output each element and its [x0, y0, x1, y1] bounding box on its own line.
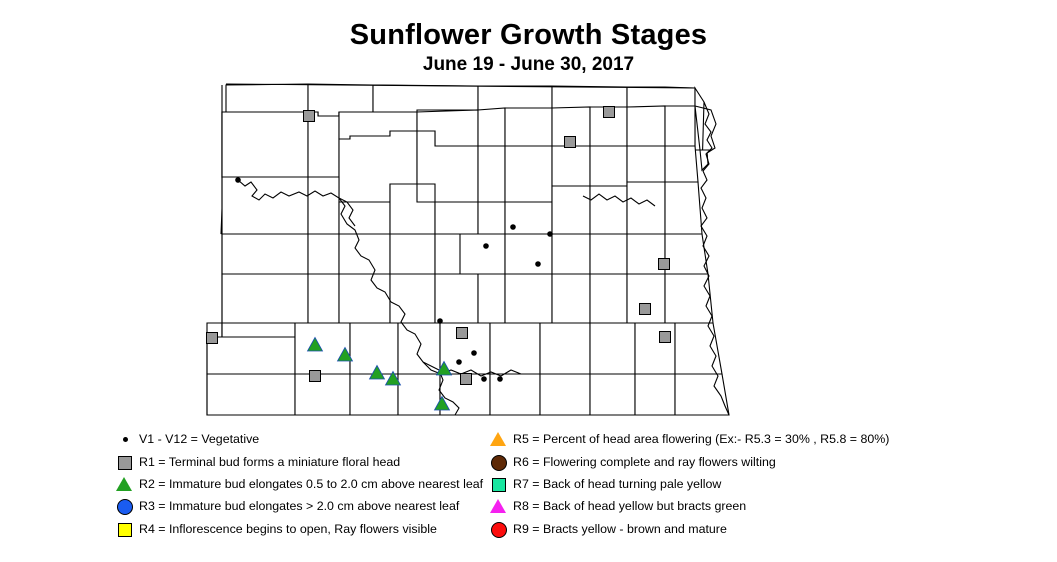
legend-label: R6 = Flowering complete and ray flowers … — [513, 455, 776, 469]
legend-column-left: V1 - V12 = VegetativeR1 = Terminal bud f… — [113, 428, 493, 540]
map-marker-v1-v12 — [483, 243, 489, 249]
legend-label: R2 = Immature bud elongates 0.5 to 2.0 c… — [139, 477, 483, 491]
map-svg — [195, 74, 765, 419]
map-marker-v1-v12 — [497, 376, 503, 382]
map-marker-r1 — [604, 107, 615, 118]
legend-marker-cell — [113, 428, 139, 450]
map-marker-v1-v12 — [456, 359, 462, 365]
map-marker-r1 — [565, 137, 576, 148]
legend-marker-cell — [487, 518, 513, 540]
page-subtitle: June 19 - June 30, 2017 — [0, 53, 1057, 76]
legend: V1 - V12 = VegetativeR1 = Terminal bud f… — [0, 428, 1057, 554]
legend-label: R8 = Back of head yellow but bracts gree… — [513, 499, 746, 513]
map-marker-v1-v12 — [437, 318, 443, 324]
legend-item-left-1: R1 = Terminal bud forms a miniature flor… — [113, 450, 493, 472]
legend-marker-cell — [487, 473, 513, 495]
legend-item-left-4: R4 = Inflorescence begins to open, Ray f… — [113, 518, 493, 540]
legend-label: R7 = Back of head turning pale yellow — [513, 477, 721, 491]
legend-label: R1 = Terminal bud forms a miniature flor… — [139, 455, 400, 469]
legend-item-left-3: R3 = Immature bud elongates > 2.0 cm abo… — [113, 495, 493, 517]
title-block: Sunflower Growth Stages June 19 - June 3… — [0, 18, 1057, 76]
yellow-square-marker — [118, 523, 132, 537]
gray-square-marker — [118, 456, 132, 470]
map-marker-v1-v12 — [235, 177, 241, 183]
map-marker-v1-v12 — [471, 350, 477, 356]
map-marker-r1 — [457, 328, 468, 339]
legend-marker-cell — [113, 518, 139, 540]
teal-square-marker — [492, 478, 506, 492]
legend-marker-cell — [487, 495, 513, 517]
legend-label: V1 - V12 = Vegetative — [139, 432, 259, 446]
map-marker-v1-v12 — [510, 224, 516, 230]
legend-item-right-3: R8 = Back of head yellow but bracts gree… — [487, 495, 937, 517]
legend-item-right-0: R5 = Percent of head area flowering (Ex:… — [487, 428, 937, 450]
map-marker-v1-v12 — [547, 231, 553, 237]
legend-marker-cell — [487, 428, 513, 450]
north-dakota-map — [195, 74, 765, 419]
map-marker-r1 — [304, 111, 315, 122]
legend-label: R4 = Inflorescence begins to open, Ray f… — [139, 522, 437, 536]
legend-marker-cell — [113, 495, 139, 517]
legend-label: R5 = Percent of head area flowering (Ex:… — [513, 432, 889, 446]
legend-item-right-2: R7 = Back of head turning pale yellow — [487, 473, 937, 495]
orange-triangle-marker — [490, 432, 506, 446]
blue-circle-marker — [117, 499, 133, 515]
legend-label: R9 = Bracts yellow - brown and mature — [513, 522, 727, 536]
map-marker-r1 — [207, 333, 218, 344]
red-circle-marker — [491, 522, 507, 538]
legend-item-right-1: R6 = Flowering complete and ray flowers … — [487, 450, 937, 472]
legend-column-right: R5 = Percent of head area flowering (Ex:… — [487, 428, 937, 540]
legend-marker-cell — [113, 451, 139, 473]
dot-marker — [123, 437, 128, 442]
brown-circle-marker — [491, 455, 507, 471]
green-triangle-marker — [116, 477, 132, 491]
legend-marker-cell — [487, 451, 513, 473]
map-marker-v1-v12 — [535, 261, 541, 267]
legend-marker-cell — [113, 473, 139, 495]
map-marker-r1 — [310, 371, 321, 382]
legend-item-left-0: V1 - V12 = Vegetative — [113, 428, 493, 450]
map-marker-v1-v12 — [481, 376, 487, 382]
map-marker-r1 — [640, 304, 651, 315]
page-title: Sunflower Growth Stages — [0, 18, 1057, 52]
county-outlines — [207, 84, 729, 415]
legend-item-right-4: R9 = Bracts yellow - brown and mature — [487, 518, 937, 540]
map-marker-r1 — [660, 332, 671, 343]
map-marker-r1 — [461, 374, 472, 385]
magenta-triangle-marker — [490, 499, 506, 513]
legend-label: R3 = Immature bud elongates > 2.0 cm abo… — [139, 499, 459, 513]
map-marker-r1 — [659, 259, 670, 270]
legend-item-left-2: R2 = Immature bud elongates 0.5 to 2.0 c… — [113, 473, 493, 495]
